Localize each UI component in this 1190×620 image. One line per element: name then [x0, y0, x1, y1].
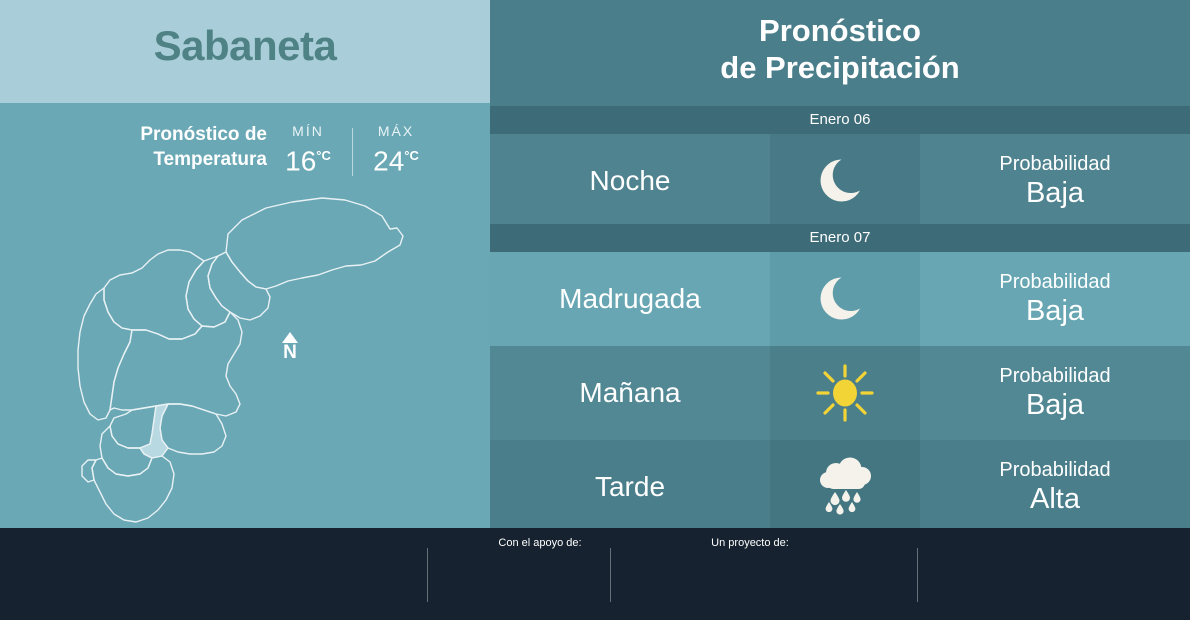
- weather-icon-cell: [770, 134, 920, 228]
- probability-cell: Probabilidad Alta: [920, 440, 1190, 534]
- temperature-block: Pronóstico de Temperatura MÍN 16°C MÁX 2…: [0, 122, 490, 184]
- forecast-title-line1: Pronóstico: [759, 13, 921, 48]
- period-cell: Mañana: [490, 346, 770, 440]
- footer: Con el apoyo de: Un proyecto de: SIATA: [0, 528, 1190, 620]
- temperature-readings: MÍN 16°C MÁX 24°C: [272, 122, 442, 182]
- probability-cell: Probabilidad Baja: [920, 134, 1190, 228]
- temperature-min: MÍN 16°C: [272, 122, 344, 177]
- temperature-title-line1: Pronóstico de: [140, 124, 267, 145]
- probability-text: Probabilidad Baja: [920, 134, 1190, 228]
- date-band-jan06: Enero 06: [490, 106, 1190, 134]
- temperature-min-value-wrap: 16°C: [272, 140, 344, 177]
- probability-text: Probabilidad Alta: [920, 440, 1190, 534]
- weather-icon-cell: [770, 252, 920, 346]
- probability-cell: Probabilidad Baja: [920, 252, 1190, 346]
- precipitation-panel: Pronóstico de Precipitación Enero 06 Noc…: [490, 0, 1190, 528]
- weather-forecast-poster: Sabaneta Pronóstico de Temperatura MÍN 1…: [0, 0, 1190, 620]
- weather-icon-cell: [770, 346, 920, 440]
- probability-value: Baja: [1026, 294, 1084, 328]
- temperature-max-unit: °C: [404, 148, 419, 163]
- footer-divider: [917, 548, 918, 602]
- temperature-min-unit: °C: [316, 148, 331, 163]
- temperature-max: MÁX 24°C: [360, 122, 432, 177]
- temperature-min-label: MÍN: [272, 122, 344, 140]
- project-label: Un proyecto de:: [660, 537, 840, 549]
- left-panel: Sabaneta Pronóstico de Temperatura MÍN 1…: [0, 0, 490, 528]
- probability-label: Probabilidad: [999, 364, 1110, 388]
- temperature-min-value: 16: [285, 145, 316, 176]
- period-label: Noche: [490, 134, 770, 228]
- probability-text: Probabilidad Baja: [920, 346, 1190, 440]
- probability-label: Probabilidad: [999, 458, 1110, 482]
- probability-value: Baja: [1026, 388, 1084, 422]
- forecast-row-tarde: Tarde: [490, 440, 1190, 534]
- city-title-band: Sabaneta: [0, 0, 490, 103]
- forecast-row-noche: Noche Probabilidad Baja: [490, 134, 1190, 228]
- probability-value: Alta: [1030, 482, 1080, 516]
- aburra-valley-map: [70, 182, 440, 528]
- sun-icon: [770, 346, 920, 440]
- forecast-row-madrugada: Madrugada Probabilidad Baja: [490, 252, 1190, 346]
- temperature-title-line2: Temperatura: [153, 149, 267, 170]
- footer-divider: [427, 548, 428, 602]
- period-label: Tarde: [490, 440, 770, 534]
- forecast-title-line2: de Precipitación: [720, 50, 959, 85]
- probability-text: Probabilidad Baja: [920, 252, 1190, 346]
- page-title: Sabaneta: [0, 22, 490, 70]
- probability-cell: Probabilidad Baja: [920, 346, 1190, 440]
- footer-divider: [610, 548, 611, 602]
- period-label: Madrugada: [490, 252, 770, 346]
- temperature-max-value: 24: [373, 145, 404, 176]
- moon-icon: [770, 134, 920, 228]
- temperature-title: Pronóstico de Temperatura: [92, 122, 267, 172]
- temperature-max-value-wrap: 24°C: [360, 140, 432, 177]
- rain-cloud-icon: [770, 440, 920, 534]
- period-cell: Noche: [490, 134, 770, 228]
- weather-icon-cell: [770, 440, 920, 534]
- north-label: N: [276, 343, 304, 363]
- probability-value: Baja: [1026, 176, 1084, 210]
- forecast-title: Pronóstico de Precipitación: [490, 12, 1190, 86]
- moon-icon: [770, 252, 920, 346]
- temperature-max-label: MÁX: [360, 122, 432, 140]
- north-arrow: N: [276, 332, 304, 363]
- probability-label: Probabilidad: [999, 152, 1110, 176]
- date-band-jan07: Enero 07: [490, 224, 1190, 252]
- probability-label: Probabilidad: [999, 270, 1110, 294]
- forecast-row-manana: Mañana: [490, 346, 1190, 440]
- temperature-divider: [352, 128, 353, 176]
- period-cell: Madrugada: [490, 252, 770, 346]
- period-label: Mañana: [490, 346, 770, 440]
- period-cell: Tarde: [490, 440, 770, 534]
